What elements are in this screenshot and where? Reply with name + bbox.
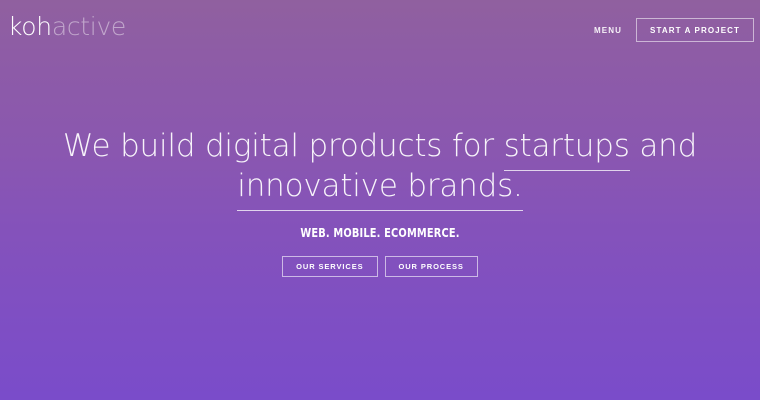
hero-cta-row: OUR SERVICES OUR PROCESS (0, 256, 760, 277)
hero-section: kohactive MENU START A PROJECT We build … (0, 0, 760, 400)
logo-text-primary: koh (8, 12, 52, 41)
our-process-button[interactable]: OUR PROCESS (385, 256, 478, 277)
start-a-project-button[interactable]: START A PROJECT (636, 18, 754, 42)
menu-toggle[interactable]: MENU (594, 26, 622, 35)
logo[interactable]: kohactive (8, 14, 126, 39)
headline-line1-prefix: We build digital products for (63, 128, 504, 164)
headline-line1-suffix: and (630, 128, 697, 164)
hero-headline: We build digital products for startups a… (0, 126, 760, 206)
our-services-button[interactable]: OUR SERVICES (282, 256, 377, 277)
header-actions: MENU START A PROJECT (594, 14, 754, 42)
headline-link-innovative-brands[interactable]: innovative brands. (237, 168, 522, 204)
hero-subhead: WEB. MOBILE. ECOMMERCE. (68, 226, 691, 240)
headline-link-startups[interactable]: startups (504, 128, 630, 164)
site-header: kohactive MENU START A PROJECT (0, 0, 760, 56)
hero-content: We build digital products for startups a… (0, 126, 760, 277)
logo-text-secondary: active (52, 12, 126, 41)
